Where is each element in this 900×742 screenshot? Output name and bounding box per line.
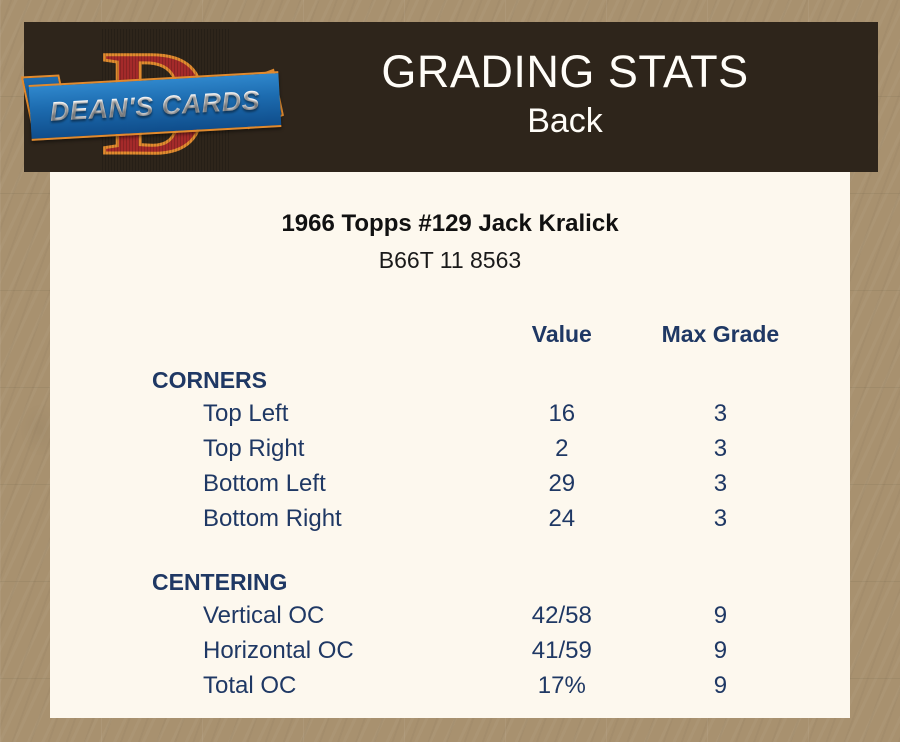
table-row: Bottom Right243 — [152, 501, 802, 536]
row-label: Top Left — [152, 396, 485, 431]
column-header-value: Value — [485, 308, 639, 350]
row-label: Vertical OC — [152, 598, 485, 633]
row-max-grade: 3 — [639, 466, 802, 501]
section-title: CORNERS — [152, 350, 485, 396]
row-value: 17% — [485, 668, 639, 703]
row-max-grade: 3 — [639, 431, 802, 466]
deans-cards-logo: D DEAN'S CARDS — [24, 23, 286, 171]
table-section-row: CENTERING — [152, 552, 802, 598]
table-row: Vertical OC42/589 — [152, 598, 802, 633]
table-row: Horizontal OC41/599 — [152, 633, 802, 668]
row-value: 41/59 — [485, 633, 639, 668]
table-header-row: ValueMax Grade — [152, 308, 802, 350]
table-row: Top Right23 — [152, 431, 802, 466]
page-subtitle: Back — [286, 100, 844, 142]
row-value: 29 — [485, 466, 639, 501]
header-titles: GRADING STATS Back — [286, 46, 878, 148]
content-panel: 1966 Topps #129 Jack Kralick B66T 11 856… — [50, 172, 850, 718]
column-header-label — [152, 308, 485, 350]
row-max-grade: 9 — [639, 598, 802, 633]
table-spacer-row — [152, 536, 802, 552]
row-value: 2 — [485, 431, 639, 466]
page-title: GRADING STATS — [286, 46, 844, 98]
table-row: Bottom Left293 — [152, 466, 802, 501]
row-label: Bottom Right — [152, 501, 485, 536]
row-label: Horizontal OC — [152, 633, 485, 668]
grading-stats: ValueMax GradeCORNERSTop Left163Top Righ… — [50, 308, 850, 703]
row-value: 42/58 — [485, 598, 639, 633]
row-value: 16 — [485, 396, 639, 431]
header-bar: D DEAN'S CARDS GRADING STATS Back — [24, 22, 878, 172]
table-row: Total OC17%9 — [152, 668, 802, 703]
table-section-row: CORNERS — [152, 350, 802, 396]
row-label: Bottom Left — [152, 466, 485, 501]
row-label: Total OC — [152, 668, 485, 703]
table-row: Top Left163 — [152, 396, 802, 431]
section-title: CENTERING — [152, 552, 485, 598]
row-max-grade: 3 — [639, 396, 802, 431]
row-value: 24 — [485, 501, 639, 536]
logo-ribbon-text: DEAN'S CARDS — [49, 85, 261, 128]
column-header-max-grade: Max Grade — [639, 308, 802, 350]
row-max-grade: 9 — [639, 668, 802, 703]
card-identifier: B66T 11 8563 — [50, 247, 850, 274]
card-title: 1966 Topps #129 Jack Kralick — [50, 210, 850, 238]
grading-stats-table: ValueMax GradeCORNERSTop Left163Top Righ… — [152, 308, 802, 703]
row-max-grade: 9 — [639, 633, 802, 668]
row-max-grade: 3 — [639, 501, 802, 536]
row-label: Top Right — [152, 431, 485, 466]
logo-ribbon: DEAN'S CARDS — [29, 71, 282, 141]
